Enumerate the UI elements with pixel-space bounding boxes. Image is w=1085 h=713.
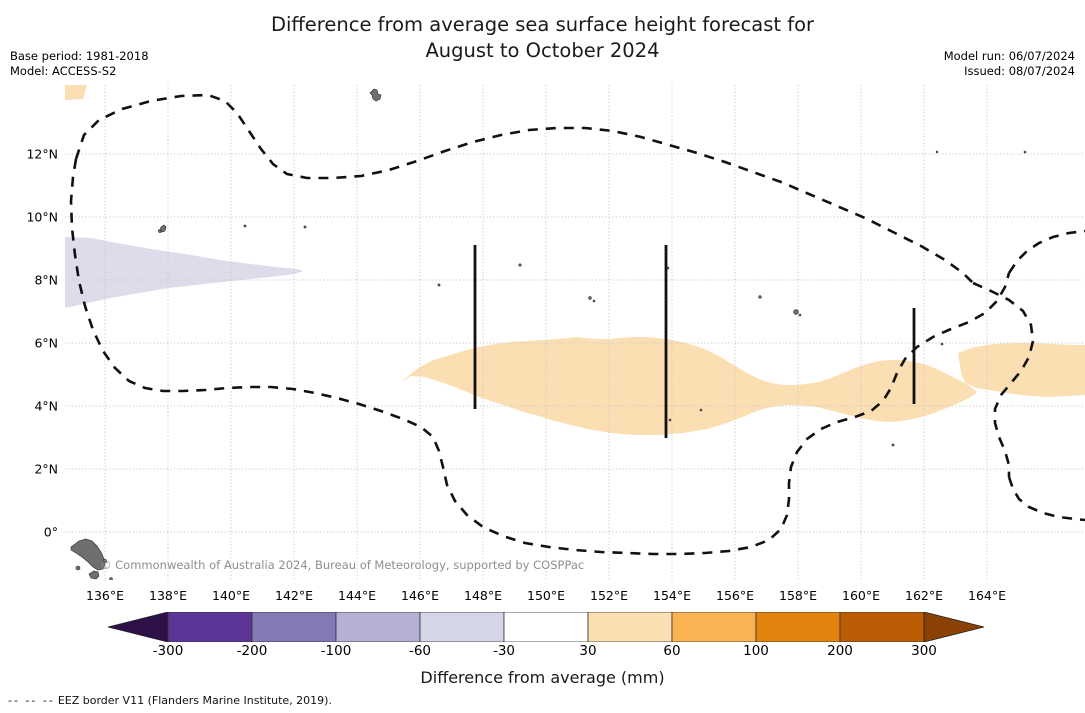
cb-tick--300: -300 <box>153 643 184 659</box>
cb-tick-100: 100 <box>743 643 769 659</box>
y-tick-2n: 2°N <box>10 462 58 477</box>
footnote-eez-legend: -- -- --EEZ border V11 (Flanders Marine … <box>8 694 332 707</box>
colorbar-extend-min <box>108 612 168 642</box>
y-tick-4n: 4°N <box>10 399 58 414</box>
eez-dash-sample: -- -- -- <box>8 694 55 707</box>
cb-tick--60: -60 <box>409 643 431 659</box>
cb-tick--30: -30 <box>493 643 515 659</box>
colorbar-axis-label: Difference from average (mm) <box>0 668 1085 687</box>
cb-tick-300: 300 <box>911 643 937 659</box>
y-tick-12n: 12°N <box>10 147 58 162</box>
colorbar-seg--100--60 <box>336 612 420 642</box>
cb-tick-30: 30 <box>579 643 596 659</box>
page-root: Difference from average sea surface heig… <box>0 0 1085 713</box>
colorbar-extend-max <box>924 612 984 642</box>
cb-tick-60: 60 <box>663 643 680 659</box>
cb-tick--200: -200 <box>237 643 268 659</box>
colorbar-seg-200-300 <box>840 612 924 642</box>
colorbar-seg-60-100 <box>672 612 756 642</box>
colorbar-seg--200--100 <box>252 612 336 642</box>
y-axis-tick-labels: 12°N 10°N 8°N 6°N 4°N 2°N 0° <box>0 0 1085 713</box>
colorbar[interactable] <box>0 612 1085 642</box>
y-tick-6n: 6°N <box>10 336 58 351</box>
colorbar-seg--300--200 <box>168 612 252 642</box>
colorbar-seg-30-60 <box>588 612 672 642</box>
colorbar-seg--30-30 <box>504 612 588 642</box>
colorbar-canvas <box>0 612 1085 642</box>
y-tick-8n: 8°N <box>10 273 58 288</box>
footnote-text: EEZ border V11 (Flanders Marine Institut… <box>58 694 332 707</box>
y-tick-10n: 10°N <box>10 210 58 225</box>
cb-tick-200: 200 <box>827 643 853 659</box>
colorbar-tick-labels: -300 -200 -100 -60 -30 30 60 100 200 300 <box>0 643 1085 661</box>
colorbar-seg-100-200 <box>756 612 840 642</box>
y-tick-0: 0° <box>10 525 58 540</box>
colorbar-seg--60--30 <box>420 612 504 642</box>
cb-tick--100: -100 <box>321 643 352 659</box>
